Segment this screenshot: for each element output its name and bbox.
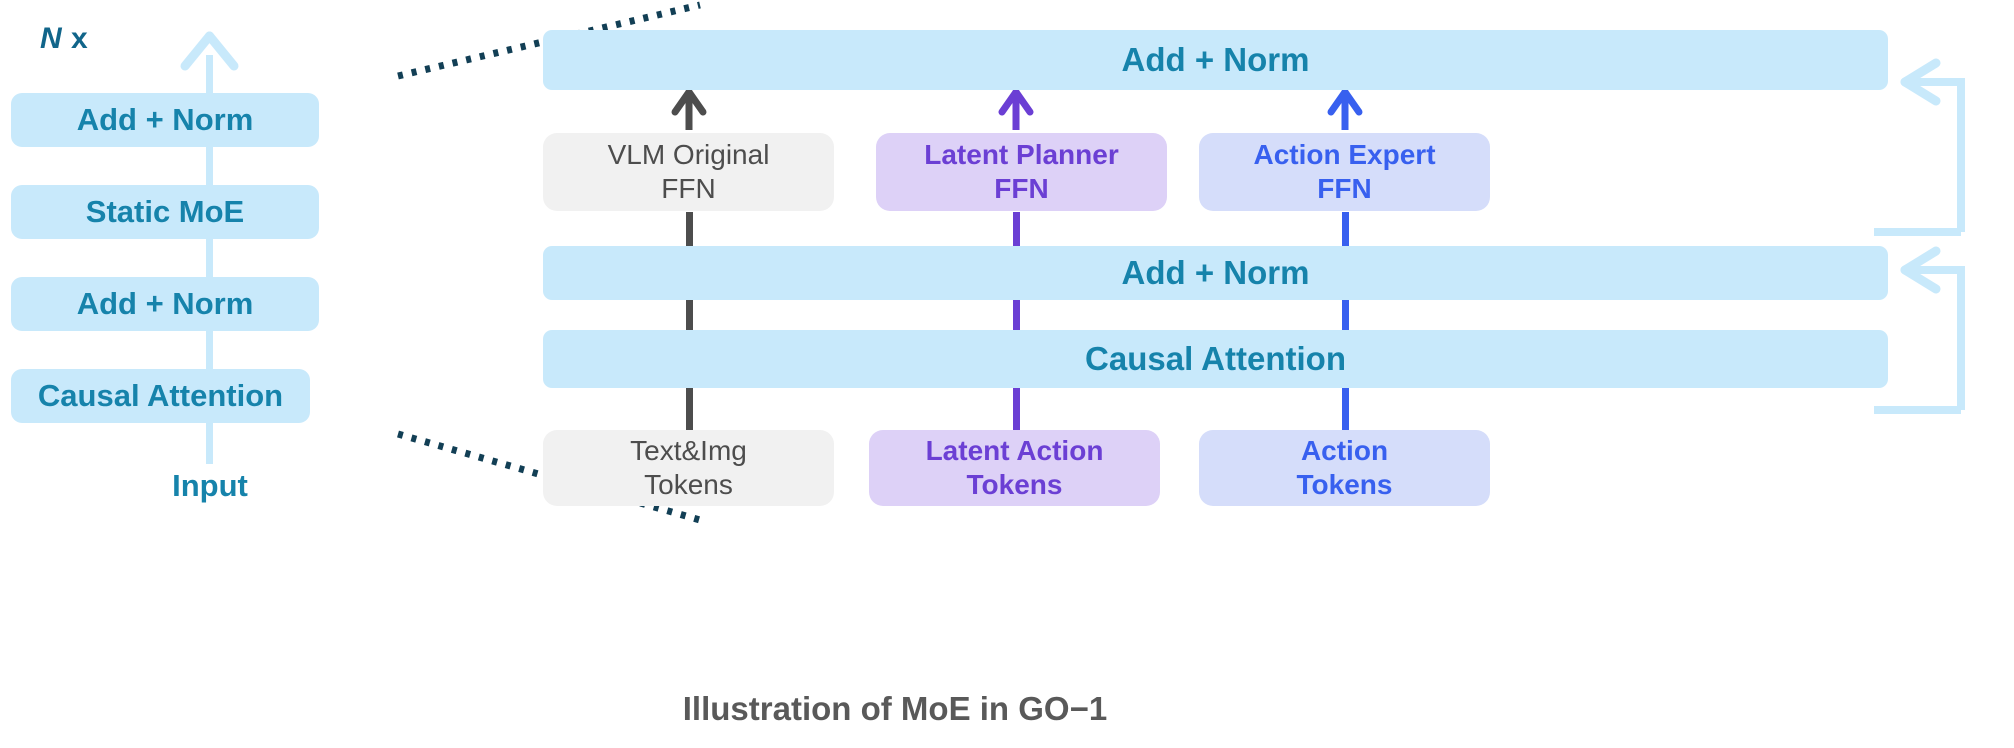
left-block-label: Add + Norm — [77, 285, 254, 322]
left-spine-bottom — [206, 416, 213, 464]
expert-arrow-purple — [1002, 92, 1030, 130]
connector-blue-tokens-to-attn — [1342, 388, 1349, 434]
diagram-canvas: N x — [0, 0, 2014, 748]
expert-box-latent-planner-ffn[interactable]: Latent Planner FFN — [876, 133, 1167, 211]
left-block-add-norm-bottom[interactable]: Add + Norm — [11, 277, 319, 331]
expert-box-line1: Latent Planner — [924, 138, 1118, 172]
repeat-count-n: N — [40, 22, 62, 55]
right-top-add-norm-label: Add + Norm — [1122, 40, 1310, 80]
token-box-line1: Text&Img — [630, 434, 747, 468]
right-mid-add-norm[interactable]: Add + Norm — [543, 246, 1888, 300]
expert-box-line2: FFN — [1317, 172, 1371, 206]
left-block-label: Add + Norm — [77, 101, 254, 138]
connector-grey-midnorm-to-attn — [686, 300, 693, 330]
input-label: Input — [110, 468, 310, 504]
connector-purple-tokens-to-attn — [1013, 388, 1020, 434]
left-block-label: Static MoE — [86, 193, 244, 230]
expert-box-line1: VLM Original — [608, 138, 770, 172]
token-box-line2: Tokens — [1297, 468, 1393, 502]
connector-blue-midnorm-to-attn — [1342, 300, 1349, 330]
figure-caption: Illustration of MoE in GO−1 — [0, 690, 1790, 728]
right-causal-attention[interactable]: Causal Attention — [543, 330, 1888, 388]
expert-arrow-grey — [675, 92, 703, 130]
left-spine-3 — [206, 324, 213, 374]
right-top-add-norm[interactable]: Add + Norm — [543, 30, 1888, 90]
expert-box-line2: FFN — [994, 172, 1048, 206]
expert-box-line1: Action Expert — [1253, 138, 1435, 172]
right-mid-add-norm-label: Add + Norm — [1122, 253, 1310, 293]
left-block-static-moe[interactable]: Static MoE — [11, 185, 319, 239]
left-block-label: Causal Attention — [38, 377, 283, 414]
connector-grey-tokens-to-attn — [686, 388, 693, 434]
left-block-causal-attention[interactable]: Causal Attention — [11, 369, 310, 423]
left-block-add-norm-top[interactable]: Add + Norm — [11, 93, 319, 147]
token-box-line2: Tokens — [644, 468, 733, 502]
repeat-count-x: x — [62, 22, 88, 55]
expert-box-line2: FFN — [661, 172, 715, 206]
right-causal-attention-label: Causal Attention — [1085, 339, 1346, 379]
repeat-count-label: N x — [40, 22, 88, 56]
token-box-text-img-tokens[interactable]: Text&Img Tokens — [543, 430, 834, 506]
expert-box-vlm-original-ffn[interactable]: VLM Original FFN — [543, 133, 834, 211]
token-box-line1: Action — [1301, 434, 1388, 468]
residual-loop-top — [1874, 63, 1961, 232]
token-box-action-tokens[interactable]: Action Tokens — [1199, 430, 1490, 506]
expert-arrow-blue — [1331, 92, 1359, 130]
connector-purple-midnorm-to-attn — [1013, 300, 1020, 330]
token-box-latent-action-tokens[interactable]: Latent Action Tokens — [869, 430, 1160, 506]
expert-box-action-expert-ffn[interactable]: Action Expert FFN — [1199, 133, 1490, 211]
token-box-line1: Latent Action — [926, 434, 1104, 468]
token-box-line2: Tokens — [967, 468, 1063, 502]
